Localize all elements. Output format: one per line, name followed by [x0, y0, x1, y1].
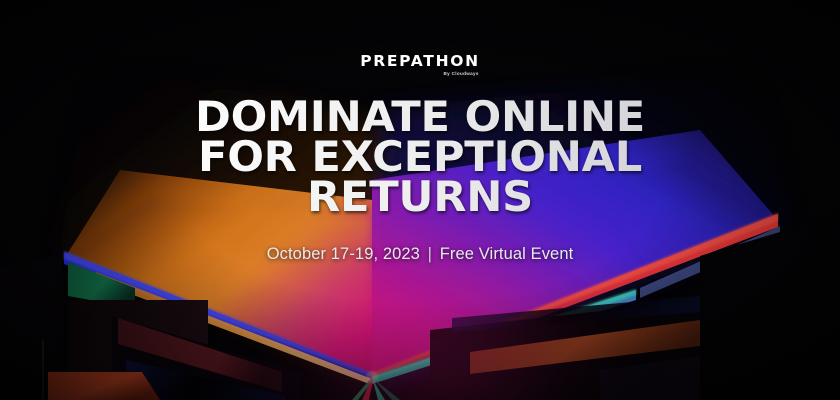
page-title: Dominate Online For Exceptional Returns	[0, 97, 840, 217]
logo-wordmark: PREPATHON	[360, 54, 480, 70]
event-dates: October 17-19, 2023	[267, 245, 420, 263]
logo-byline: By Cloudways	[360, 72, 480, 77]
banner-content: PREPATHON By Cloudways Dominate Online F…	[0, 0, 840, 400]
event-banner: PREPATHON By Cloudways Dominate Online F…	[0, 0, 840, 400]
headline-line-2: For Exceptional	[0, 137, 840, 177]
detail-separator: |	[425, 245, 435, 263]
headline-line-1: Dominate Online	[0, 97, 840, 137]
headline-line-3: Returns	[0, 177, 840, 217]
event-details: October 17-19, 2023 | Free Virtual Event	[0, 245, 840, 264]
event-type: Free Virtual Event	[440, 245, 574, 263]
prepathon-logo[interactable]: PREPATHON By Cloudways	[360, 54, 480, 77]
